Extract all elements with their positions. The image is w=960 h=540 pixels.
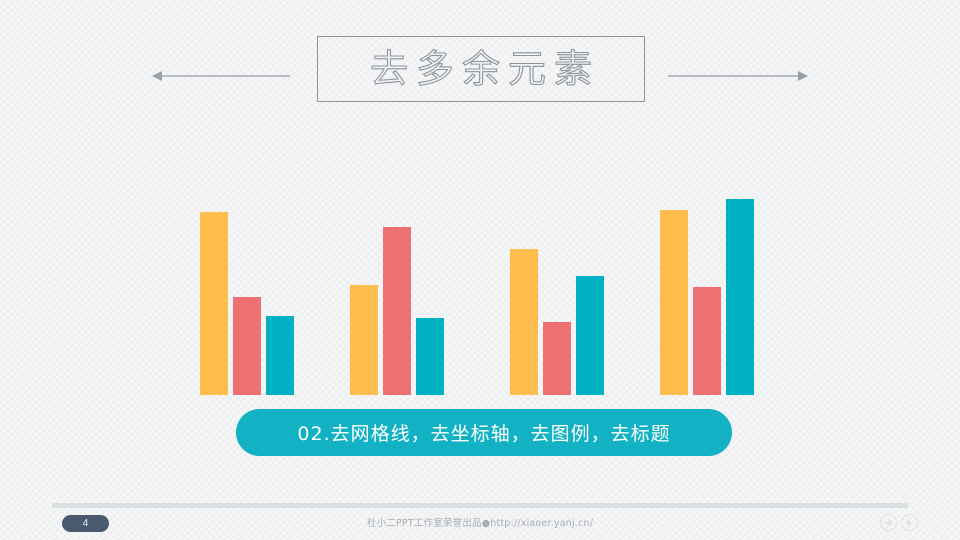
- page-title: 去多余元素: [362, 50, 600, 88]
- caption-pill: 02.去网格线，去坐标轴，去图例，去标题: [236, 409, 732, 456]
- bar: [726, 199, 754, 395]
- arrow-right-head-icon: [798, 71, 808, 81]
- bar-group: [660, 187, 754, 395]
- arrow-left-icon: [152, 69, 290, 83]
- bar: [350, 285, 378, 395]
- title-box: 去多余元素: [317, 36, 645, 102]
- footer-divider: [52, 503, 908, 508]
- bar: [510, 249, 538, 395]
- slide-header: 去多余元素: [0, 0, 960, 140]
- bar: [200, 212, 228, 395]
- bar: [233, 297, 261, 395]
- bar-group: [350, 187, 444, 395]
- triangle-right-icon: [907, 519, 912, 527]
- bar-group: [200, 187, 294, 395]
- bar: [416, 318, 444, 395]
- prev-slide-button[interactable]: [880, 514, 897, 531]
- next-slide-button[interactable]: [901, 514, 918, 531]
- footer-credit: 杜小二PPT工作室荣誉出品●http://xiaoer.yanj.cn/: [0, 515, 960, 529]
- bar: [576, 276, 604, 395]
- slide-canvas: 去多余元素 02.去网格线，去坐标轴，去图例，去标题 4 杜小二PPT工作室荣誉…: [0, 0, 960, 540]
- bar: [660, 210, 688, 395]
- bar-group: [510, 187, 604, 395]
- bar: [266, 316, 294, 395]
- triangle-left-icon: [886, 519, 891, 527]
- arrow-right-line: [668, 75, 798, 77]
- bar: [693, 287, 721, 395]
- nav-controls: [880, 514, 918, 531]
- arrow-left-line: [162, 75, 290, 77]
- bar: [383, 227, 411, 395]
- caption-label: 02.去网格线，去坐标轴，去图例，去标题: [297, 419, 670, 446]
- bar-chart: [0, 180, 960, 395]
- bar: [543, 322, 571, 395]
- arrow-right-icon: [668, 69, 808, 83]
- arrow-left-head-icon: [152, 71, 162, 81]
